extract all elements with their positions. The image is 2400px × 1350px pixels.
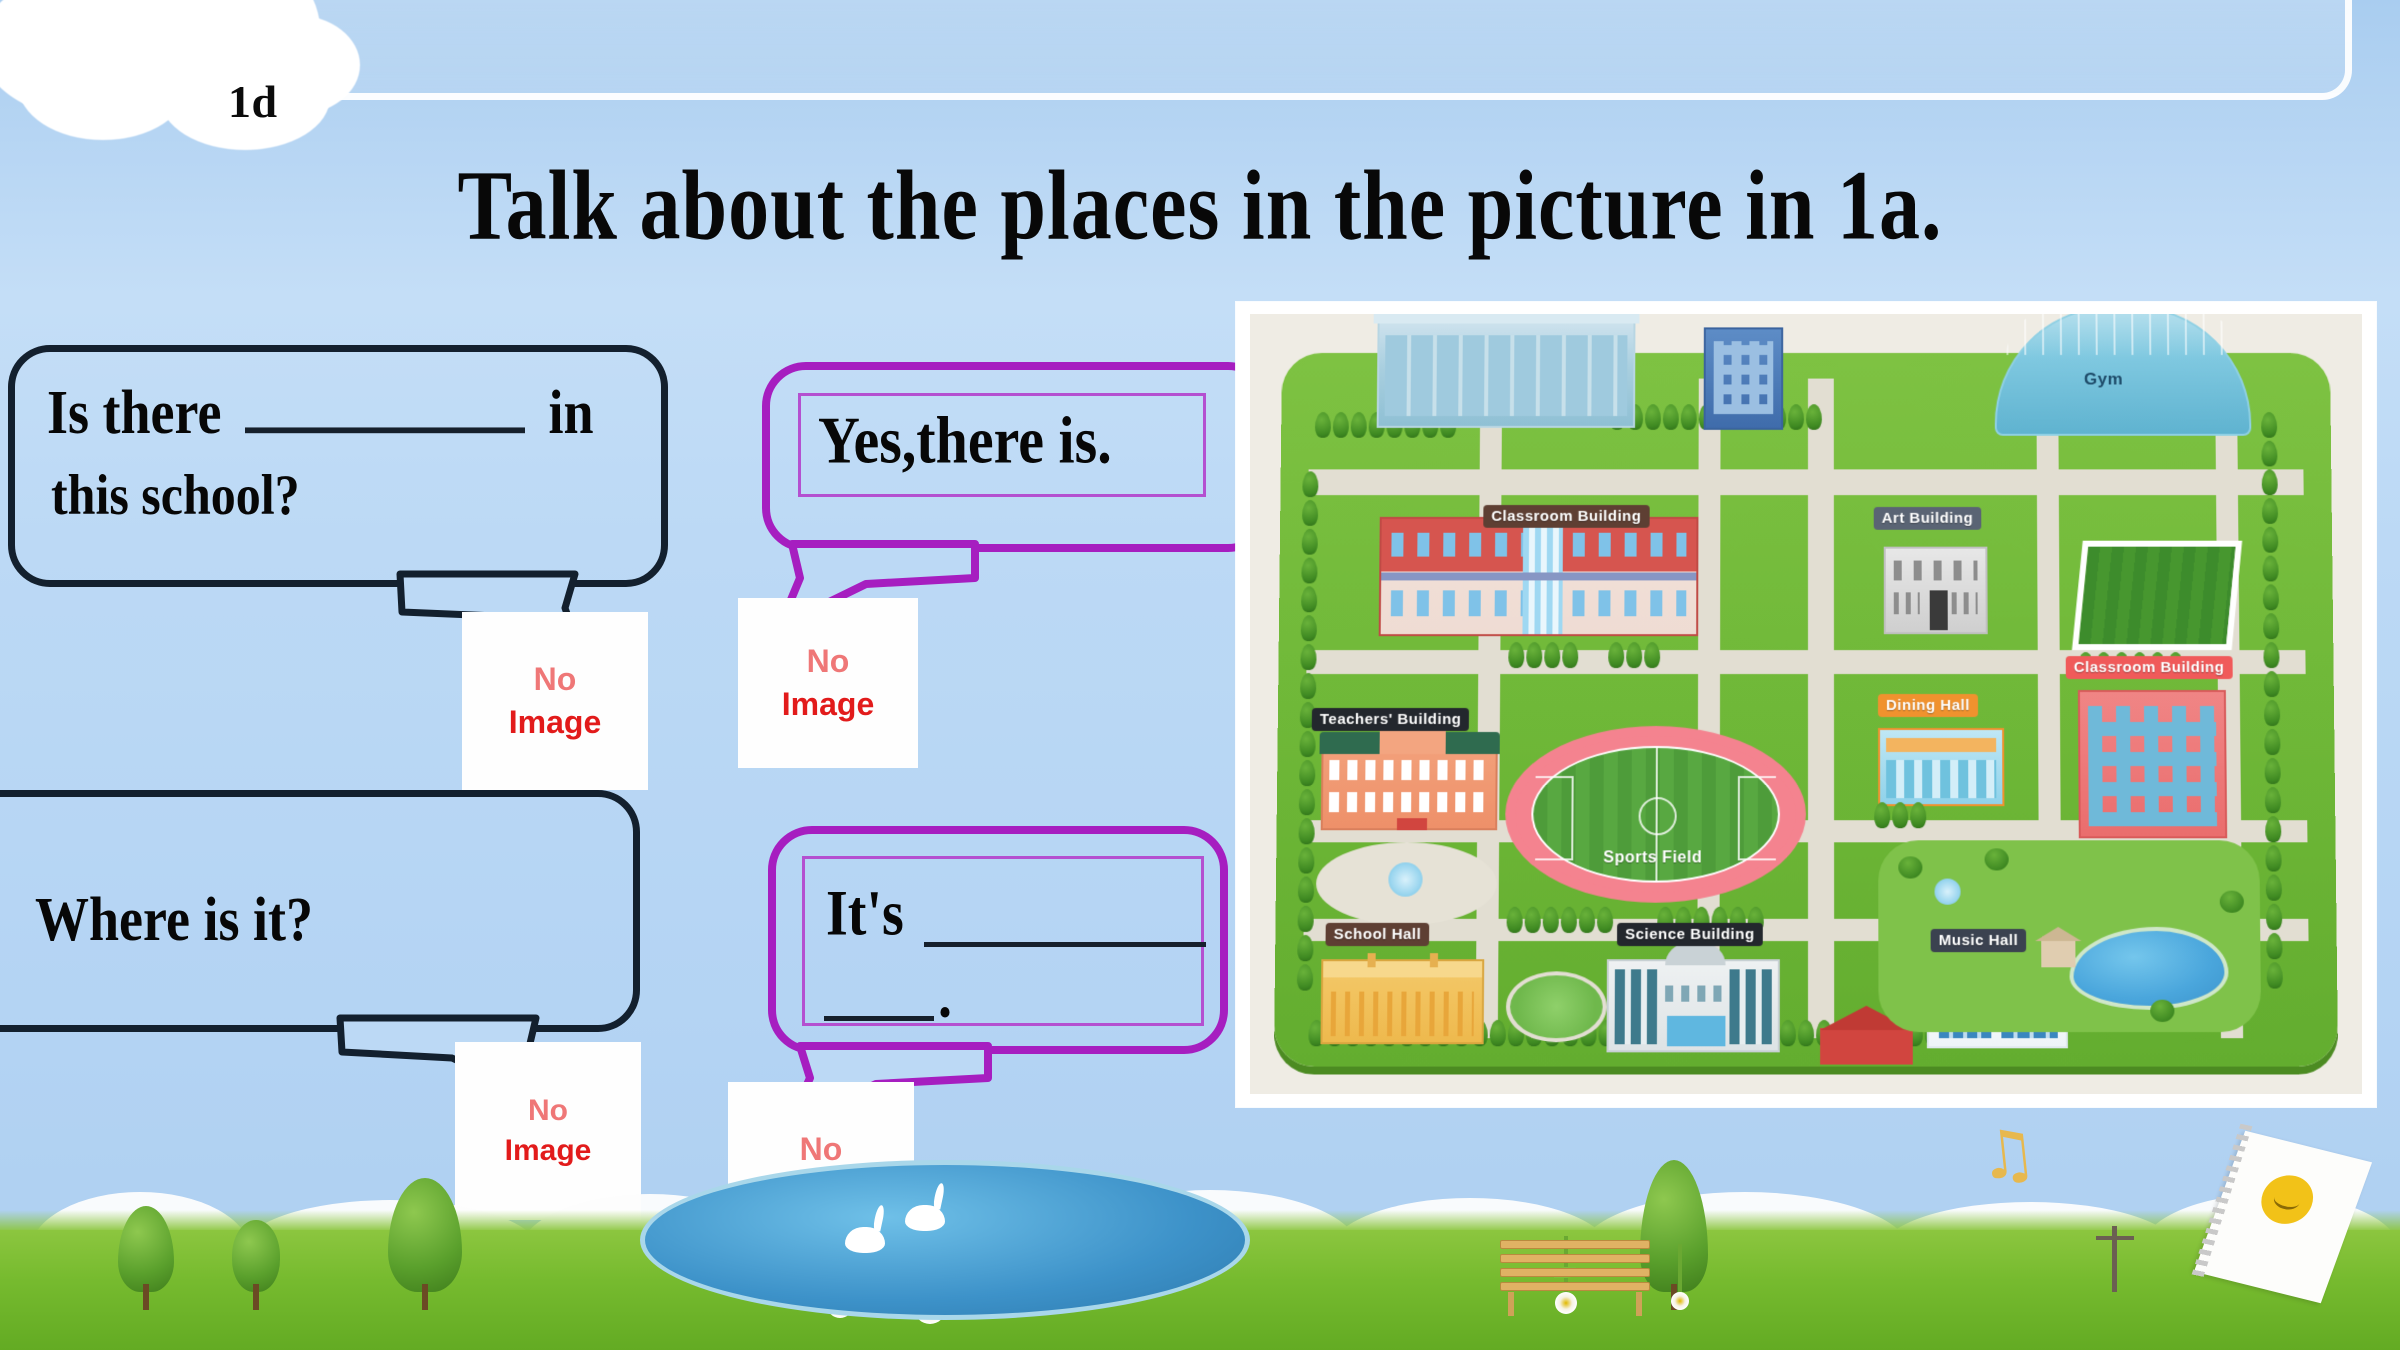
placeholder-line-2: Image [509, 701, 601, 744]
building-dining-hall [1878, 728, 2004, 806]
utility-pole-decoration [2112, 1226, 2117, 1292]
tree-decoration [388, 1178, 462, 1292]
main-gate [1820, 1028, 1913, 1065]
bubble1-text-after: in [548, 378, 593, 447]
tree-decoration [118, 1206, 174, 1292]
road-horizontal [1308, 469, 2303, 495]
speech-bubble-question-is-there[interactable]: Is there in this school? [8, 345, 668, 587]
building-classroom-right [2078, 690, 2227, 838]
tennis-court [2072, 541, 2242, 650]
tree-cluster [1874, 802, 1926, 828]
speech-bubble-answer-yes[interactable]: Yes,there is. [762, 362, 1272, 552]
placeholder-line-1: No [807, 640, 850, 683]
image-placeholder: No Image [462, 612, 648, 790]
image-placeholder: No Image [738, 598, 918, 768]
map-label-school-hall: School Hall [1326, 923, 1430, 946]
top-frame-decoration [22, 0, 2352, 100]
bubble1-line2: this school? [51, 462, 300, 526]
bubble1-text-before: Is there [47, 378, 221, 447]
blank-line-1 [245, 427, 525, 433]
tree-decoration [1640, 1160, 1708, 1292]
map-label-dining-hall: Dining Hall [1878, 694, 1978, 717]
campus-ground: Library Student Centre Gym [1274, 353, 2338, 1067]
map-label-gym: Gym [2076, 367, 2131, 393]
park-tree [1985, 848, 2009, 870]
tree-cluster [1507, 907, 1614, 933]
building-science [1607, 959, 1780, 1052]
tree-decoration [232, 1220, 280, 1292]
bubble3-text: Where is it? [35, 885, 313, 955]
tree-cluster [1508, 642, 1578, 668]
building-art [1884, 547, 1988, 634]
road-vertical [1808, 379, 1834, 1039]
map-label-science-building: Science Building [1617, 923, 1763, 946]
swan-icon [905, 1205, 945, 1231]
map-label-classroom-left: Classroom Building [1483, 505, 1649, 528]
flower-garden [1506, 971, 1607, 1042]
road-vertical [1476, 379, 1503, 1039]
park-tree [1898, 856, 1922, 878]
speech-bubble-answer-its[interactable]: It's . [768, 826, 1228, 1054]
placeholder-line-2: Image [782, 683, 874, 726]
campus-map-inner: Library Student Centre Gym [1250, 314, 2362, 1094]
campus-map: Library Student Centre Gym [1236, 302, 2376, 1107]
bubble4-period: . [938, 960, 952, 1032]
slide-canvas: 1d Talk about the places in the picture … [0, 0, 2400, 1350]
section-tag: 1d [228, 75, 278, 128]
building-library [1377, 318, 1636, 428]
building-school-hall [1320, 959, 1484, 1044]
page-title: Talk about the places in the picture in … [0, 148, 2400, 263]
bubble4-line1-label: It's [826, 878, 904, 950]
placeholder-line-1: No [528, 1091, 568, 1132]
park-pond [1934, 879, 1960, 905]
building-classroom-left [1379, 517, 1699, 636]
speech-bubble-question-where[interactable]: Where is it? [0, 790, 640, 1032]
building-student-centre [1704, 327, 1784, 429]
blank-line-3 [824, 1016, 934, 1021]
park-tree [2220, 891, 2244, 913]
bubble2-text: Yes,there is. [818, 404, 1112, 479]
tree-row-right [2261, 412, 2283, 988]
map-label-sports-field: Sports Field [1595, 846, 1710, 870]
music-note-icon: ♫ [1975, 1119, 2041, 1191]
pond-decoration [640, 1160, 1250, 1320]
map-label-teachers-building: Teachers' Building [1312, 708, 1470, 731]
park-tree [2150, 1000, 2174, 1022]
bench-decoration [1500, 1240, 1650, 1298]
placeholder-line-1: No [534, 658, 577, 701]
map-label-classroom-right: Classroom Building [2066, 656, 2233, 679]
fountain [1388, 862, 1422, 896]
blank-line-2 [924, 942, 1206, 947]
map-label-music-hall: Music Hall [1931, 929, 2027, 952]
tree-cluster [1608, 642, 1660, 668]
swan-icon [845, 1227, 885, 1253]
smiley-face-icon [2254, 1170, 2320, 1229]
map-label-art-building: Art Building [1874, 507, 1981, 530]
pavilion [2041, 939, 2075, 967]
building-teachers [1321, 746, 1498, 830]
